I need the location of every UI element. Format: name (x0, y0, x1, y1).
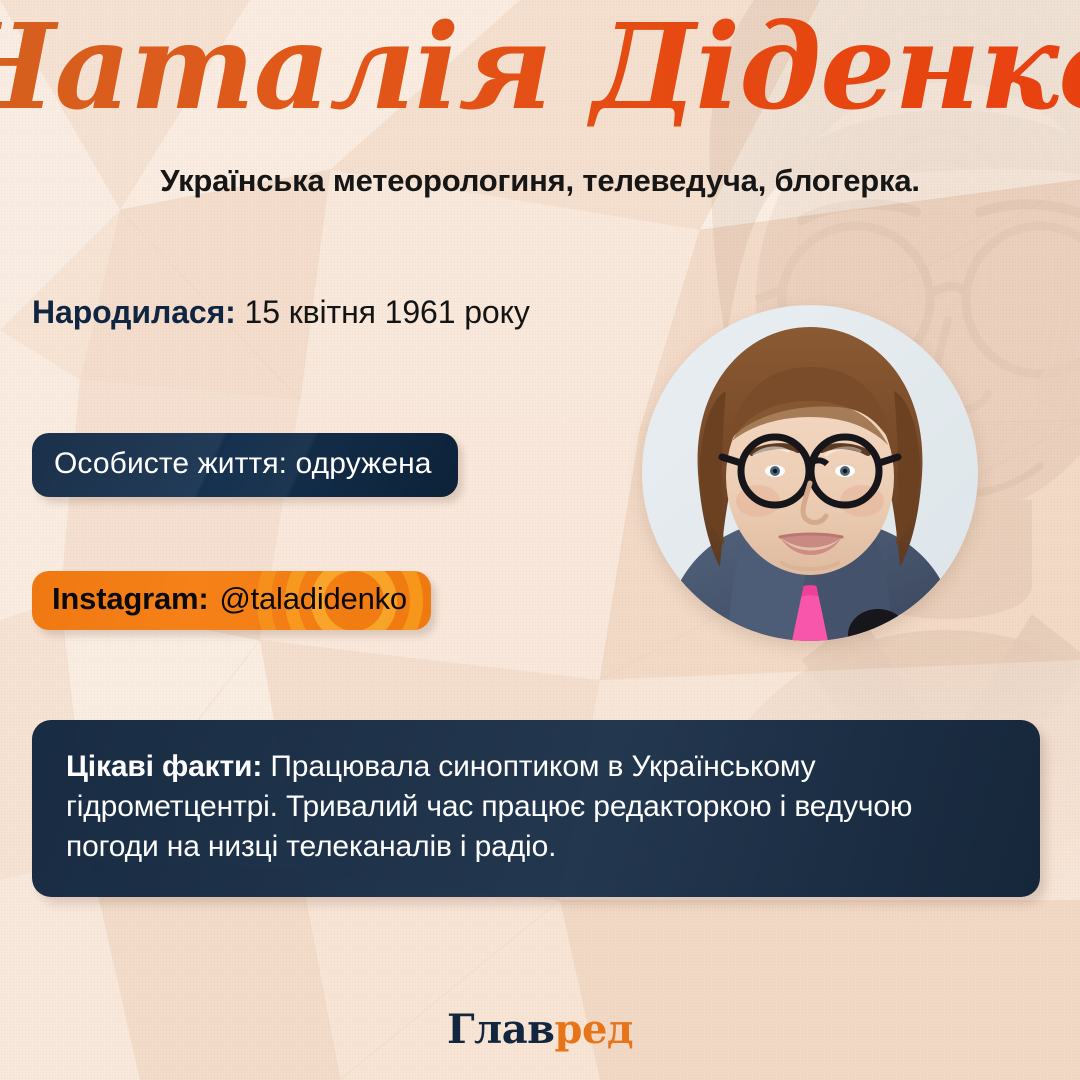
personal-life-badge[interactable]: Особисте життя: одружена (32, 433, 458, 497)
page-subtitle: Українська метеорологиня, телеведуча, бл… (0, 163, 1080, 199)
interesting-facts-panel: Цікаві факти: Працювала синоптиком в Укр… (32, 720, 1040, 897)
birth-label: Народилася: (32, 294, 236, 330)
birth-line: Народилася: 15 квітня 1961 року (32, 294, 530, 331)
birth-value: 15 квітня 1961 року (245, 294, 530, 330)
instagram-label: Instagram: (52, 581, 208, 617)
personal-life-text: Особисте життя: одружена (54, 447, 432, 481)
instagram-handle[interactable]: @taladidenko (219, 581, 407, 617)
page-title: Наталія Діденко (35, 8, 1045, 138)
facts-label: Цікаві факти: (66, 750, 262, 783)
title-area: Наталія Діденко (0, 8, 1080, 148)
portrait-avatar (642, 305, 978, 641)
page-title-text: Наталія Діденко (0, 0, 1080, 136)
logo-part-orange: ред (554, 1006, 633, 1053)
instagram-badge[interactable]: Instagram: @taladidenko (32, 571, 431, 630)
infographic-poster: Наталія Діденко Українська метеорологиня… (0, 0, 1080, 1080)
glavred-logo[interactable]: Главред (0, 1006, 1080, 1053)
logo-part-dark: Глав (447, 1006, 555, 1053)
